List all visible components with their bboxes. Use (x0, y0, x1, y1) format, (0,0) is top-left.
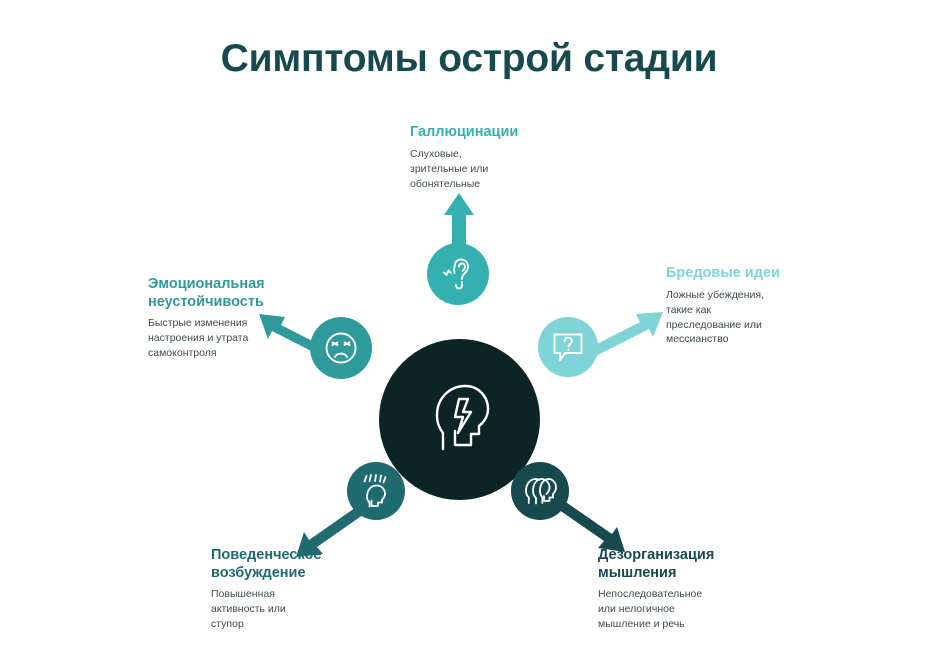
callout-emotional-instability: Эмоциональная неустойчивость Быстрые изм… (148, 276, 338, 361)
node-hallucinations[interactable] (427, 243, 489, 305)
callout-body-disorganized-thinking: Непоследовательное или нелогичное мышлен… (598, 587, 793, 632)
node-behavioral-agitation[interactable] (347, 462, 405, 520)
agitated-head-icon (358, 474, 394, 508)
callout-disorganized-thinking: Дезорганизация мышления Непоследовательн… (598, 547, 793, 632)
callout-heading-disorganized-thinking: Дезорганизация мышления (598, 547, 793, 582)
callout-delusions: Бредовые идеи Ложные убеждения, такие ка… (666, 265, 856, 347)
callout-body-emotional-instability: Быстрые изменения настроения и утрата са… (148, 316, 338, 361)
multiple-heads-icon (522, 475, 558, 507)
callout-heading-hallucinations: Галлюцинации (410, 124, 585, 142)
callout-body-behavioral-agitation: Повышенная активность или ступор (211, 587, 401, 632)
node-delusions[interactable] (538, 317, 598, 377)
callout-body-delusions: Ложные убеждения, такие как преследовани… (666, 288, 856, 348)
head-lightning-icon (425, 379, 495, 460)
callout-heading-behavioral-agitation: Поведенческое возбуждение (211, 547, 401, 582)
callout-heading-delusions: Бредовые идеи (666, 265, 856, 283)
callout-hallucinations: Галлюцинации Слуховые, зрительные или об… (410, 124, 585, 191)
ear-soundwave-icon (441, 257, 475, 291)
callout-behavioral-agitation: Поведенческое возбуждение Повышенная акт… (211, 547, 401, 632)
infographic-canvas: Симптомы острой стадии (0, 0, 938, 665)
callout-heading-emotional-instability: Эмоциональная неустойчивость (148, 276, 338, 311)
node-disorganized-thinking[interactable] (511, 462, 569, 520)
speech-bubble-question-icon (551, 331, 585, 363)
callout-body-hallucinations: Слуховые, зрительные или обонятельные (410, 147, 585, 192)
